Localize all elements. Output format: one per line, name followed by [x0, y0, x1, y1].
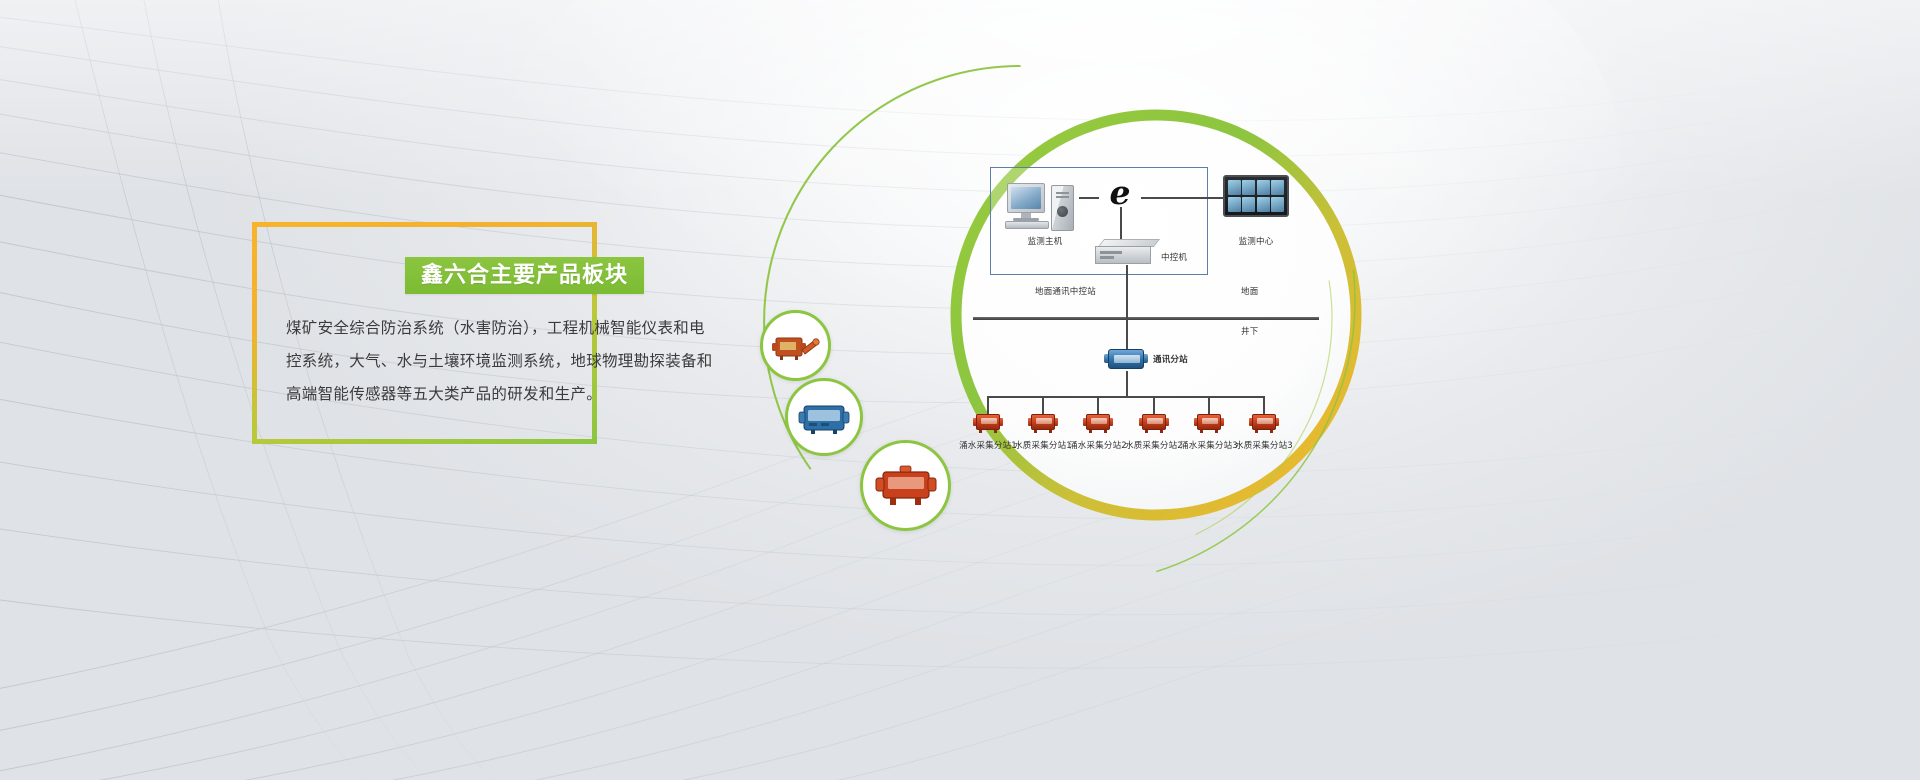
monitor-icon	[1007, 183, 1045, 213]
field-station-device-3	[1083, 413, 1113, 433]
wire-drop-5	[1208, 396, 1210, 414]
wire-substation-drop	[1126, 371, 1128, 397]
keyboard-icon	[1005, 221, 1049, 229]
monitoring-center-videowall	[1223, 175, 1289, 217]
blue-enclosure-icon	[791, 384, 857, 450]
videowall-grid	[1228, 180, 1284, 212]
wire-controller-to-substation	[1126, 265, 1128, 349]
red-enclosure-icon	[866, 446, 945, 525]
wire-drop-4	[1153, 396, 1155, 414]
banner-stage: 鑫六合主要产品板块 煤矿安全综合防治系统（水害防治），工程机械智能仪表和电控系统…	[0, 0, 1920, 780]
right-illustration-panel: 监测主机 e 监测中心 中控机	[740, 0, 1920, 780]
field-station-device-2	[1028, 413, 1058, 433]
pc-tower-icon	[1051, 185, 1074, 231]
product-bubble-red-enclosure[interactable]	[860, 440, 951, 531]
left-content-panel: 鑫六合主要产品板块 煤矿安全综合防治系统（水害防治），工程机械智能仪表和电控系统…	[0, 0, 760, 780]
label-field-station-6: 水质采集分站3	[1232, 439, 1296, 451]
label-field-station-3: 涌水采集分站2	[1066, 439, 1130, 451]
internet-cloud-icon: e	[1097, 175, 1143, 209]
label-ground-comm-station: 地面通讯中控站	[1035, 285, 1096, 297]
label-monitoring-center: 监测中心	[1220, 235, 1292, 247]
wire-host-to-cloud	[1079, 197, 1099, 199]
monitoring-host-device	[1007, 183, 1077, 231]
system-architecture-diagram: 监测主机 e 监测中心 中控机	[945, 145, 1365, 485]
section-title-banner: 鑫六合主要产品板块	[405, 257, 644, 294]
orange-instrument-icon	[766, 316, 826, 376]
ground-surface-line	[973, 317, 1319, 320]
label-monitoring-host: 监测主机	[1013, 235, 1077, 247]
central-controller-device	[1095, 239, 1157, 265]
field-station-device-5	[1194, 413, 1224, 433]
description-paragraph: 煤矿安全综合防治系统（水害防治），工程机械智能仪表和电控系统，大气、水与土壤环境…	[286, 312, 718, 411]
page-title: 鑫六合主要产品板块	[421, 265, 628, 287]
internet-glyph: e	[1110, 176, 1131, 209]
wire-drop-6	[1263, 396, 1265, 414]
server-face	[1095, 246, 1151, 264]
wire-field-bus	[987, 396, 1265, 398]
product-bubble-blue-enclosure[interactable]	[785, 378, 863, 456]
wire-drop-3	[1097, 396, 1099, 414]
label-central-controller: 中控机	[1161, 251, 1187, 263]
product-bubble-orange-instrument[interactable]	[760, 310, 831, 381]
wire-drop-1	[987, 396, 989, 414]
wire-drop-2	[1042, 396, 1044, 414]
wire-cloud-to-controller	[1120, 207, 1122, 239]
section-description: 煤矿安全综合防治系统（水害防治），工程机械智能仪表和电控系统，大气、水与土壤环境…	[286, 312, 718, 411]
wire-cloud-to-center	[1141, 197, 1223, 199]
field-station-device-1	[973, 413, 1003, 433]
field-station-device-4	[1139, 413, 1169, 433]
label-comm-substation: 通讯分站	[1153, 353, 1188, 365]
field-station-device-6	[1249, 413, 1279, 433]
comm-substation-device	[1104, 347, 1148, 371]
substation-body	[1108, 349, 1144, 369]
label-underground: 井下	[1241, 325, 1258, 337]
label-ground: 地面	[1241, 285, 1258, 297]
